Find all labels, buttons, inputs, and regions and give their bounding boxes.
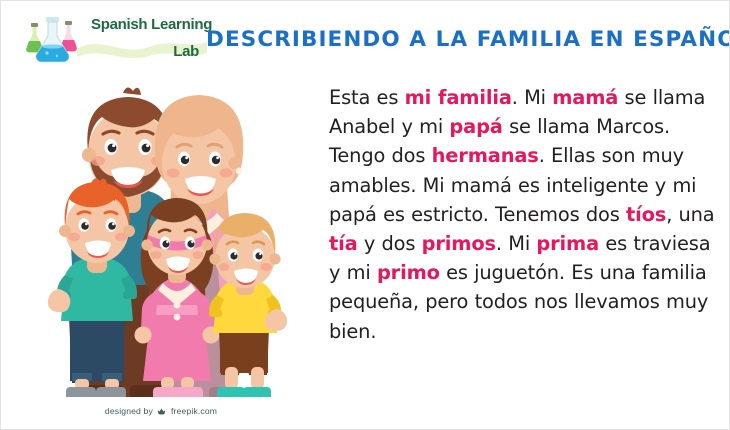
story-keyword: tíos [626, 203, 666, 226]
story-keyword: mamá [552, 86, 618, 109]
attribution-source: freepik.com [171, 406, 217, 416]
page-header: Spanish Learning Lab DESCRIBIENDO A LA F… [1, 1, 730, 73]
logo-wordmark: Spanish Learning Lab [91, 11, 203, 65]
story-keyword: papá [449, 115, 502, 138]
story-paragraph: Esta es mi familia. Mi mamá se llama Ana… [329, 83, 721, 346]
story-keyword: mi familia [405, 86, 512, 109]
infographic-page: Spanish Learning Lab DESCRIBIENDO A LA F… [0, 0, 730, 430]
story-keyword: primo [377, 261, 440, 284]
attribution-credit: designed by freepik.com [1, 406, 321, 416]
logo-line-2: Lab [173, 44, 199, 59]
logo-line-1: Spanish Learning [91, 17, 212, 32]
story-text: y dos [358, 232, 422, 255]
illustration-younger-boy [209, 213, 287, 397]
story-text: , una [666, 203, 714, 226]
story-keyword: primos [422, 232, 496, 255]
page-title: DESCRIBIENDO A LA FAMILIA EN ESPAÑOL [206, 27, 721, 52]
family-illustration [31, 67, 321, 397]
site-logo[interactable]: Spanish Learning Lab [19, 7, 199, 67]
illustration-older-boy [48, 178, 137, 397]
story-text: Esta es [329, 86, 405, 109]
story-keyword: tía [329, 232, 358, 255]
lab-flasks-icon [23, 15, 91, 67]
story-text: . Mi [496, 232, 536, 255]
story-keyword: hermanas [432, 144, 539, 167]
story-keyword: prima [536, 232, 599, 255]
attribution-prefix: designed by [105, 406, 153, 416]
freepik-crown-icon [157, 407, 166, 416]
story-text: . Mi [512, 86, 552, 109]
